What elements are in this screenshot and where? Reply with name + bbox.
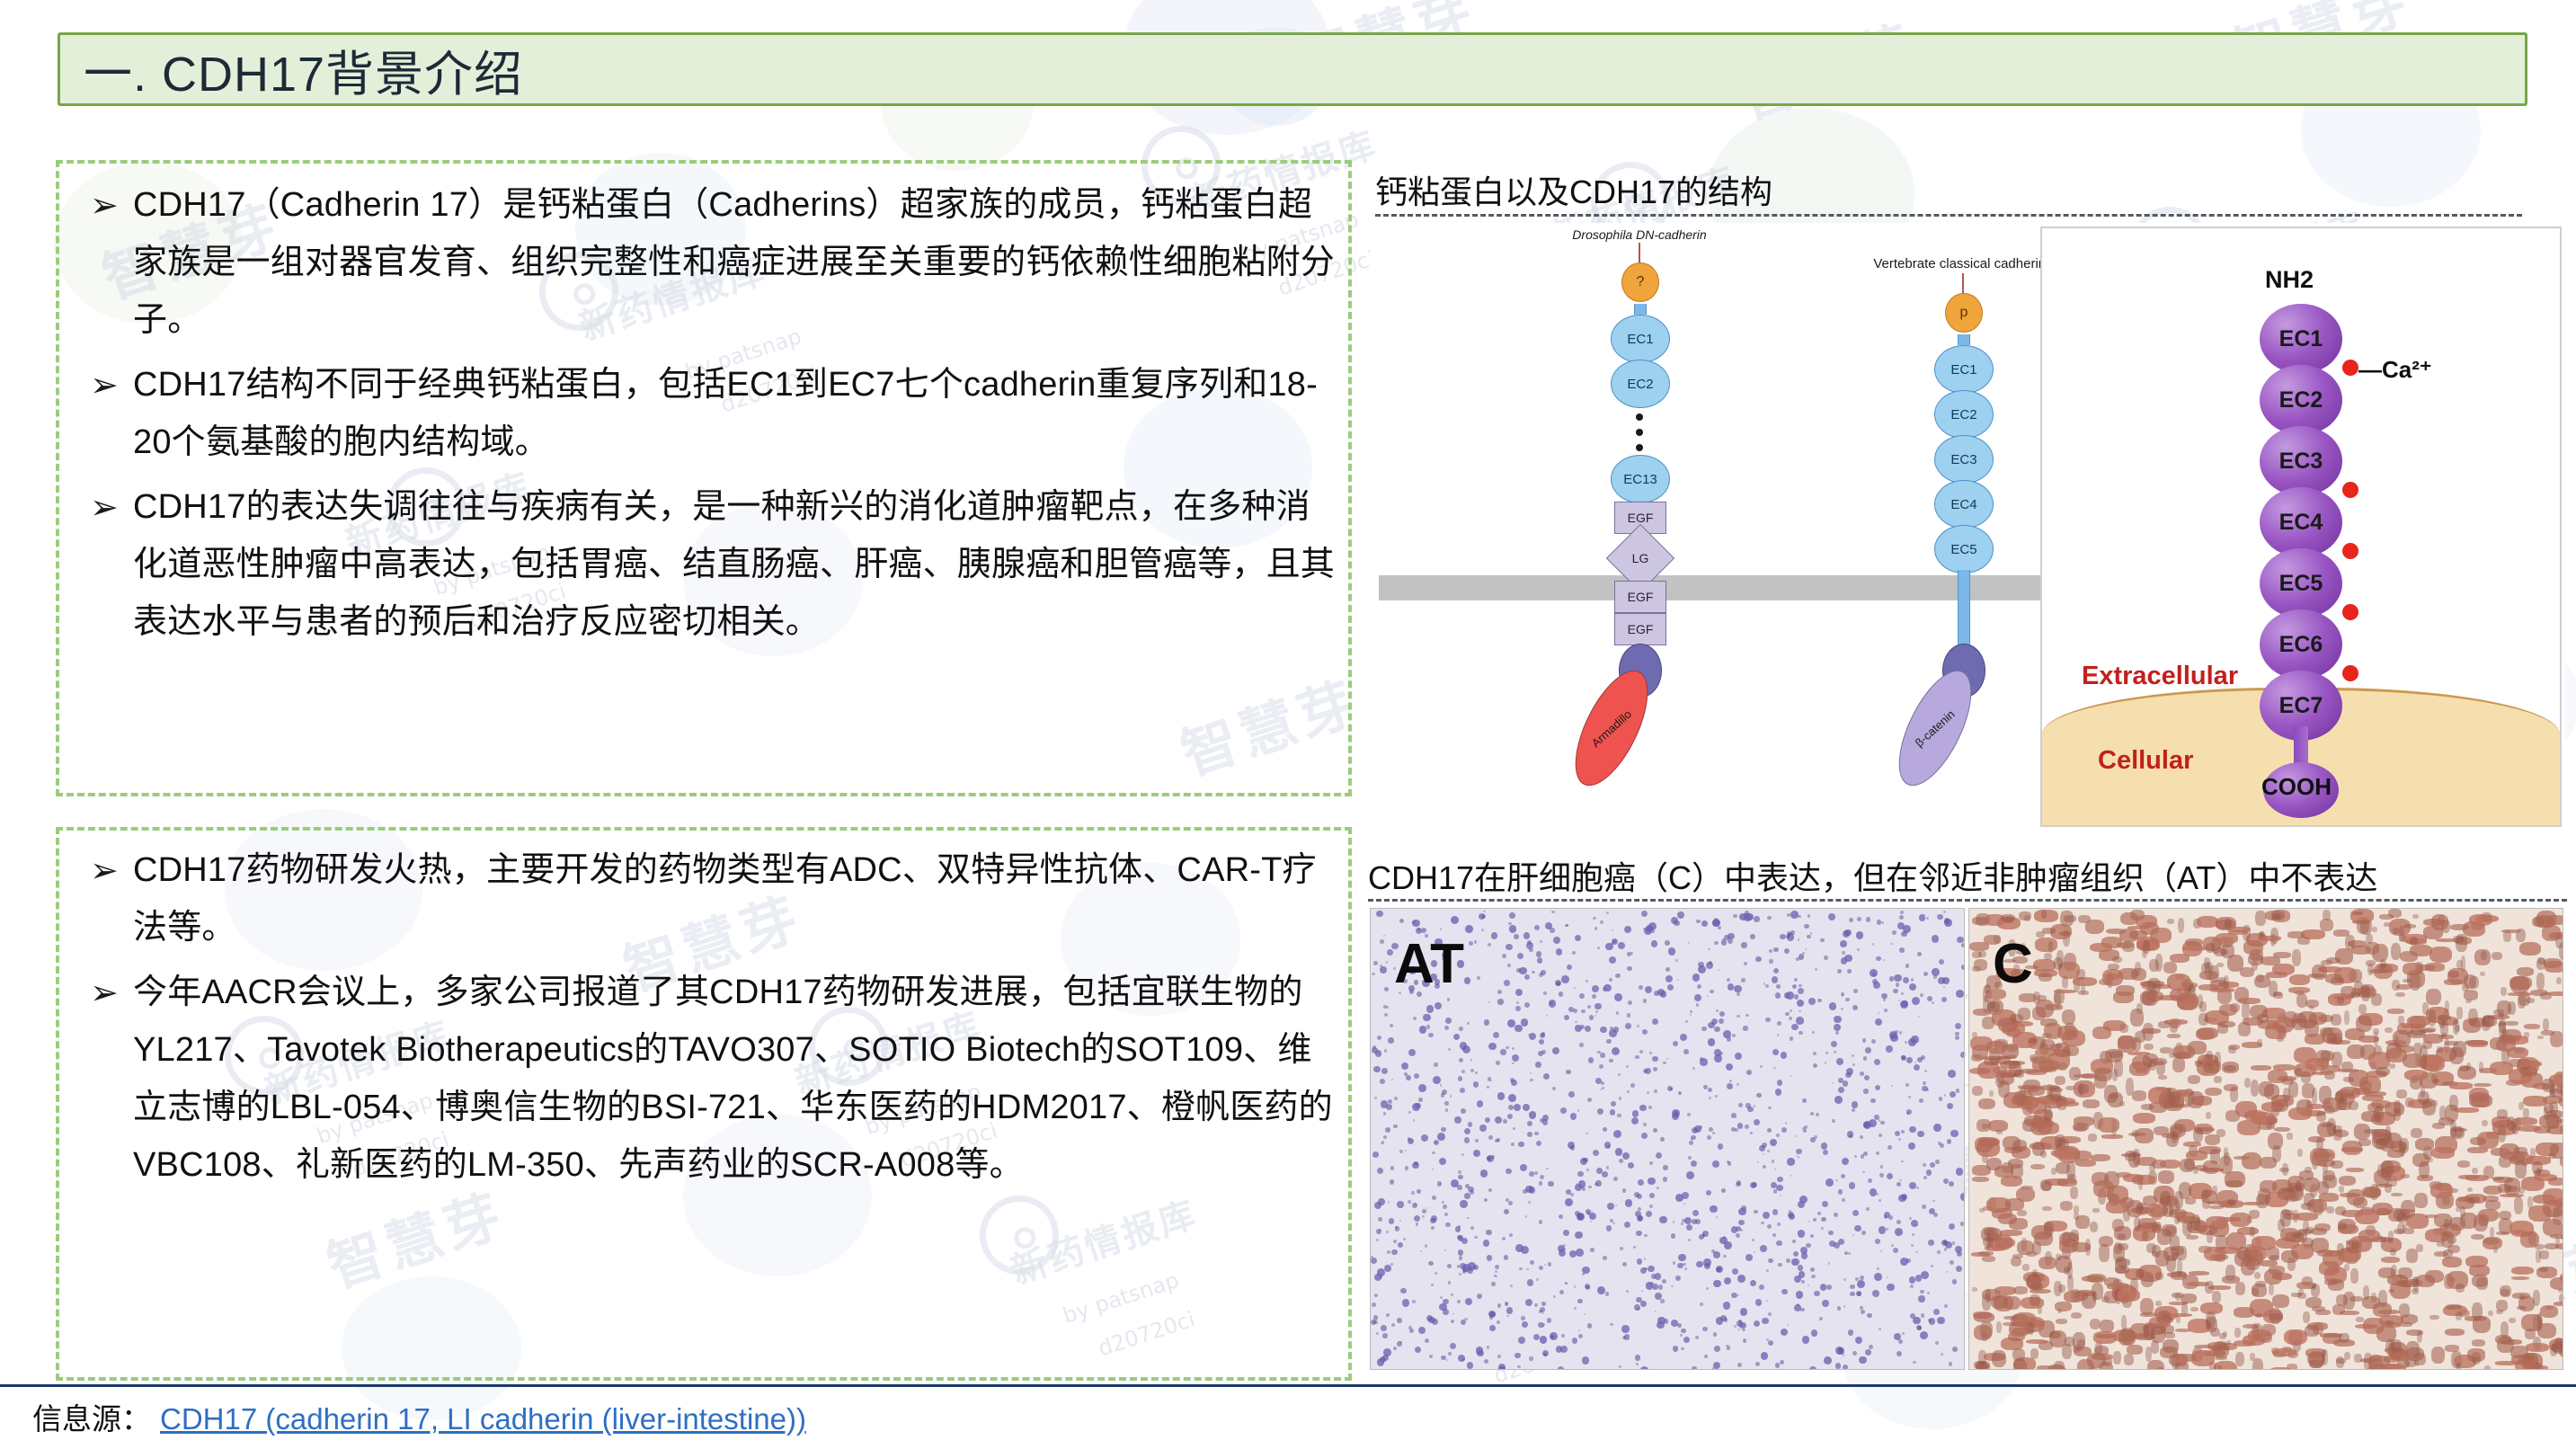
tissue-speck [2073,977,2097,986]
tissue-speck [2274,1127,2290,1132]
tissue-speck [1602,1171,1608,1178]
tissue-speck [1806,1243,1810,1248]
tissue-speck [2257,1014,2269,1023]
tissue-speck [2376,1139,2388,1143]
tissue-speck [1781,1289,1788,1295]
tissue-speck [2057,1178,2077,1186]
tissue-speck [1544,1264,1546,1266]
tissue-speck [1835,1179,1838,1182]
tissue-speck [2374,1032,2378,1047]
tissue-speck [1777,1021,1781,1026]
tissue-speck [1495,1116,1502,1124]
tissue-speck [1915,1251,1917,1253]
tissue-speck [1587,1098,1592,1102]
tissue-speck [1780,1195,1781,1196]
tissue-speck [1710,990,1713,993]
tissue-speck [1982,1017,1994,1029]
tissue-speck [1420,1250,1422,1252]
tissue-speck [2074,1116,2093,1126]
tissue-speck [2500,1289,2509,1296]
tissue-speck [1448,1281,1452,1285]
tissue-speck [1668,947,1675,955]
tissue-speck [1686,1224,1692,1231]
tissue-speck [2144,1044,2154,1050]
tissue-speck [1772,976,1778,982]
tissue-speck [1810,1112,1814,1116]
tissue-speck [2178,918,2185,934]
tissue-speck [2085,1239,2091,1257]
tissue-speck [2034,910,2057,922]
tissue-speck [1692,1067,1695,1070]
tissue-speck [2269,1313,2283,1320]
column-label: Drosophila DN-cadherin [1523,227,1756,244]
tissue-speck [1697,984,1701,989]
tissue-speck [2312,965,2327,981]
tissue-speck [2335,1206,2346,1215]
tissue-speck [1440,1084,1443,1087]
tissue-speck [1785,1012,1790,1017]
tissue-speck [2223,1331,2227,1337]
tissue-speck [2362,1187,2382,1197]
tissue-speck [1901,992,1905,996]
tissue-speck [1828,913,1835,920]
tissue-speck [1706,1287,1710,1291]
tissue-speck [1443,1309,1449,1315]
tissue-speck [1746,1070,1752,1075]
tissue-speck [1688,1239,1691,1241]
tissue-speck [1928,1240,1934,1246]
tissue-speck [1702,1327,1707,1331]
tissue-speck [1893,989,1897,993]
tissue-speck [1692,973,1700,981]
tissue-speck [2343,1292,2355,1309]
tissue-speck [1432,1151,1435,1154]
tissue-speck [1765,1018,1770,1022]
tissue-speck [1425,1338,1429,1343]
tissue-speck [2175,1212,2195,1221]
tissue-speck [2472,1339,2485,1346]
tissue-speck [1831,1041,1837,1047]
tissue-speck [2550,1142,2563,1159]
tissue-speck [2441,1231,2454,1248]
tissue-speck [1561,1334,1565,1338]
tissue-speck [2464,990,2478,1000]
tissue-speck [1712,1132,1715,1134]
tissue-speck [1684,1267,1687,1270]
tissue-speck [2483,1196,2499,1202]
tissue-speck [1875,1239,1880,1244]
tissue-speck [1527,1279,1533,1285]
tissue-speck [1594,1003,1601,1009]
tissue-speck [1384,1049,1387,1052]
tissue-speck [1391,1079,1393,1080]
tissue-speck [1773,947,1779,953]
tissue-speck [2378,1310,2400,1314]
tissue-speck [1834,1213,1838,1217]
calcium-ion-dot [2342,482,2358,498]
tissue-speck [2044,953,2051,960]
tissue-speck [2450,924,2468,930]
tissue-speck [2315,1310,2331,1315]
tissue-speck [1908,1096,1911,1098]
tissue-speck [2404,1070,2429,1080]
tissue-speck [2071,1312,2082,1319]
tissue-speck [2056,1101,2078,1107]
tissue-speck [1539,1181,1543,1186]
tissue-speck [2001,914,2015,922]
tissue-speck [1639,1050,1643,1053]
tissue-speck [1809,1366,1816,1370]
tissue-speck [2292,949,2301,966]
figure-1-caption: 钙粘蛋白以及CDH17的结构 [1375,166,1772,213]
tissue-speck [1595,1010,1598,1013]
tissue-speck [1943,911,1946,913]
tissue-speck [2011,1257,2022,1267]
tissue-speck [1610,1109,1616,1116]
tissue-speck [1568,1091,1575,1098]
ec-domain: EC5 [1934,525,1994,573]
tissue-speck [1854,1225,1861,1232]
tissue-speck [1414,1215,1420,1222]
tissue-speck [2197,1027,2218,1039]
tissue-speck [1657,1187,1659,1189]
tissue-speck [1724,1277,1731,1285]
list-item: ➢ CDH17药物研发火热，主要开发的药物类型有ADC、双特异性抗体、CAR-T… [77,841,1336,956]
tissue-speck [1376,1239,1379,1241]
tissue-speck [2429,1315,2439,1320]
tissue-speck [1398,1242,1404,1249]
tissue-speck [1540,940,1542,943]
tissue-speck [1614,993,1621,1000]
tissue-speck [1912,1233,1914,1236]
ec-domain: EC4 [2260,487,2342,557]
tissue-speck [1775,1089,1782,1096]
tissue-speck [1737,1294,1739,1296]
tissue-speck [2304,1193,2314,1206]
tissue-speck [2062,976,2068,989]
tissue-speck [1675,1194,1683,1202]
tissue-speck [1496,1061,1500,1065]
tissue-speck [1612,1047,1620,1055]
tissue-speck [2450,1120,2456,1138]
tissue-speck [1655,1311,1657,1312]
tissue-speck [1620,1247,1623,1250]
n-terminal-tail [1639,243,1640,264]
tissue-speck [1517,1365,1520,1368]
ec-domain: EC3 [1934,435,1994,484]
tissue-speck [1884,1009,1888,1012]
tissue-speck [1423,1014,1430,1021]
tissue-speck [1957,937,1963,943]
tissue-speck [1880,1250,1882,1252]
tissue-speck [2288,987,2310,993]
tissue-speck [2504,1021,2518,1026]
tissue-speck [1400,1288,1406,1293]
tissue-speck [2385,1320,2394,1324]
tissue-speck [1666,967,1670,972]
tissue-speck [1728,983,1735,991]
tissue-speck [1786,991,1794,1000]
tissue-speck [1403,1238,1406,1240]
tissue-speck [2206,1311,2216,1329]
tissue-speck [1514,934,1519,939]
tissue-speck [1426,1025,1430,1028]
tissue-speck [1538,1051,1543,1056]
tissue-speck [1386,961,1388,963]
tissue-speck [1618,942,1625,949]
list-item: ➢ 今年AACR会议上，多家公司报道了其CDH17药物研发进展，包括宜联生物的Y… [77,964,1336,1194]
tissue-speck [1956,990,1964,998]
tissue-speck [1380,966,1387,973]
tissue-speck [1670,1088,1673,1090]
tissue-speck [2467,1348,2485,1361]
tissue-speck [1808,998,1816,1005]
tissue-speck [2456,1311,2462,1320]
tissue-speck [1518,1337,1525,1344]
tissue-speck [2345,1028,2365,1039]
tissue-speck [1828,1262,1831,1265]
tissue-speck [1767,1150,1770,1152]
cdh17-structure-figure: NH2EC1EC2EC3EC4EC5EC6EC7—Ca²⁺Extracellul… [2040,227,2562,827]
tissue-speck [1798,1230,1806,1238]
tissue-speck [1590,1248,1594,1252]
tissue-speck [2230,1087,2238,1102]
tissue-speck [1498,1364,1506,1370]
tissue-speck [1794,1276,1801,1283]
tissue-speck [1397,1201,1403,1207]
tissue-speck [1731,1293,1737,1298]
tissue-speck [1845,1072,1851,1078]
tissue-speck [1745,1254,1752,1260]
tissue-speck [1920,993,1923,997]
tissue-speck [1460,1042,1467,1049]
tissue-speck [1905,1083,1909,1087]
tissue-speck [1816,1113,1819,1116]
tissue-speck [2096,1334,2114,1338]
tissue-speck [1935,1341,1939,1345]
tissue-speck [1918,1295,1924,1302]
tissue-speck [1616,1011,1620,1015]
tissue-speck [2167,919,2174,924]
tissue-speck [1651,940,1658,947]
tissue-speck [1525,1215,1527,1217]
tissue-speck [2441,1033,2446,1038]
tissue-speck [1413,1017,1417,1020]
tissue-speck [2543,1188,2563,1205]
tissue-speck [1902,1332,1905,1335]
tissue-speck [2469,1265,2490,1276]
tissue-speck [1481,929,1483,930]
tissue-speck [2372,927,2378,932]
tissue-speck [1673,1261,1675,1264]
tissue-speck [1673,1221,1675,1223]
tissue-speck [1459,1027,1463,1031]
tissue-speck [2431,1347,2446,1363]
tissue-speck [1425,1244,1427,1247]
tissue-speck [1625,1199,1633,1207]
tissue-speck [1680,1334,1683,1337]
tissue-speck [1860,1135,1863,1139]
tissue-speck [1474,940,1478,944]
tissue-speck [1659,1216,1666,1223]
tissue-speck [1905,964,1910,968]
tissue-speck [1940,1143,1944,1148]
tissue-speck [1841,992,1844,996]
tissue-speck [2108,964,2119,970]
tissue-speck [2273,992,2283,999]
tissue-speck [1622,1262,1627,1267]
tissue-speck [1912,997,1920,1005]
tissue-speck [1911,1244,1914,1247]
tissue-speck [1914,1062,1916,1063]
tissue-speck [1910,1313,1915,1319]
tissue-speck [1595,1078,1602,1084]
tissue-speck [1470,1069,1474,1072]
tissue-speck [1402,1299,1409,1306]
tissue-speck [1914,1064,1920,1071]
tissue-speck [1592,985,1599,992]
tissue-speck [2207,1231,2213,1243]
tissue-speck [1640,1366,1648,1370]
tissue-speck [1799,984,1802,988]
tissue-speck [1383,1112,1387,1116]
tissue-speck [1656,1152,1662,1159]
tissue-speck [1737,1329,1739,1330]
tissue-speck [1487,1346,1489,1348]
tissue-speck [1761,1352,1768,1359]
tissue-speck [1757,1161,1759,1163]
tissue-speck [1605,1292,1609,1295]
tissue-speck [1534,925,1540,930]
tissue-speck [1522,1321,1529,1329]
tissue-speck [1887,1173,1893,1179]
tissue-speck [1680,1034,1687,1041]
tissue-speck [1901,1194,1908,1201]
tissue-speck [1677,1263,1683,1268]
tissue-speck [2323,1250,2344,1267]
tissue-speck [1750,1280,1756,1286]
tissue-speck [2445,1329,2465,1336]
tissue-speck [1477,1293,1482,1299]
tissue-speck [1927,996,1932,1001]
ellipsis-icon [1636,413,1643,451]
tissue-speck [1723,1030,1731,1038]
tissue-speck [1899,1031,1902,1034]
tissue-speck [1691,1160,1697,1167]
tissue-speck [1769,949,1772,953]
tissue-speck [1637,1258,1643,1265]
tissue-speck [2036,931,2045,938]
tissue-speck [1570,1113,1577,1120]
tissue-speck [2042,1206,2051,1211]
tissue-speck [2326,1206,2333,1213]
tissue-speck [1876,956,1881,962]
tissue-speck [2498,1013,2504,1018]
tissue-speck [1582,1187,1586,1191]
tissue-speck [1600,1053,1604,1057]
tissue-speck [1743,1338,1747,1343]
tissue-speck [2009,1218,2028,1230]
tissue-speck [1714,1346,1720,1352]
tissue-speck [1932,1200,1935,1203]
tissue-speck [2480,972,2485,976]
tissue-speck [1690,1014,1692,1016]
ec-domain: EC13 [1611,455,1670,503]
tissue-speck [1761,1222,1764,1225]
tissue-speck [1737,992,1740,996]
ec-domain: EC3 [2260,426,2342,496]
tissue-speck [1906,1258,1911,1263]
tissue-speck [1641,911,1648,917]
tissue-speck [2484,1365,2491,1370]
tissue-speck [1597,1286,1605,1294]
tissue-speck [2422,1098,2437,1115]
tissue-speck [2456,1007,2463,1019]
tissue-speck [1692,1366,1696,1370]
tissue-speck [1715,1095,1718,1098]
tissue-speck [2186,1235,2198,1240]
ec-domain: EC5 [2260,548,2342,618]
tissue-speck [1870,969,1878,977]
tissue-speck [1529,1356,1532,1360]
tissue-speck [1431,1284,1434,1286]
tissue-speck [1909,983,1916,991]
tissue-speck [2344,1010,2349,1025]
tissue-speck [1802,952,1805,955]
tissue-speck [1762,1318,1769,1325]
tissue-speck [1559,991,1563,996]
tissue-speck [1567,965,1573,971]
tissue-speck [2422,1002,2428,1015]
tissue-speck [1528,1201,1531,1204]
list-item-text: CDH17结构不同于经典钙粘蛋白，包括EC1到EC7七个cadherin重复序列… [133,356,1336,471]
tissue-speck [2524,1024,2541,1028]
tissue-speck [1711,1018,1718,1025]
tissue-speck [1519,1267,1523,1271]
tissue-speck [2214,1076,2221,1083]
tissue-speck [1913,1361,1915,1364]
tissue-speck [2287,931,2305,938]
tissue-speck [2062,1009,2076,1025]
tissue-speck [1578,1329,1580,1331]
tissue-speck [2075,1160,2096,1168]
tissue-speck [2143,1023,2154,1041]
tissue-speck [1754,1105,1756,1107]
tissue-speck [2204,1060,2221,1072]
tissue-speck [1476,1347,1484,1355]
tissue-speck [1938,977,1944,983]
tissue-speck [1517,953,1523,959]
tissue-speck [1952,1279,1958,1285]
tissue-speck [2499,1211,2512,1220]
tissue-speck [2323,1333,2341,1344]
tissue-speck [1431,1226,1435,1230]
tissue-speck [1852,1063,1855,1066]
tissue-speck [2323,1164,2329,1173]
tissue-speck [1732,1268,1738,1275]
tissue-speck [1445,1222,1450,1227]
source-link[interactable]: CDH17 (cadherin 17, LI cadherin (liver-i… [160,1402,806,1436]
tissue-speck [2525,1329,2536,1339]
tissue-speck [1628,1162,1634,1169]
tissue-speck [1636,1363,1639,1365]
tissue-speck [1619,1365,1621,1368]
tissue-speck [1529,1033,1536,1040]
tissue-speck [1760,1065,1763,1068]
tissue-speck [1495,1270,1497,1272]
tissue-speck [1458,1249,1464,1256]
tissue-speck [1394,1097,1398,1100]
